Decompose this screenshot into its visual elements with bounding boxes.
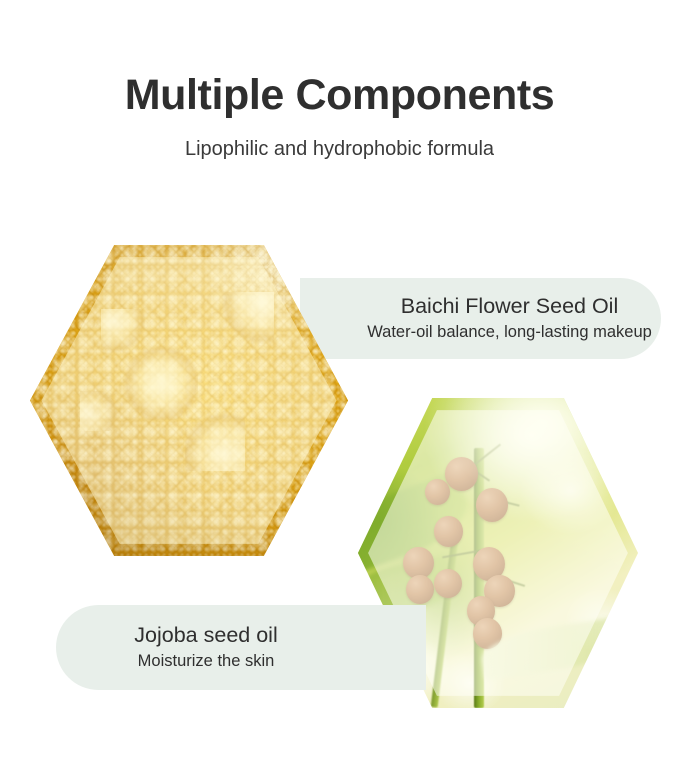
product-feature-panel: Multiple Components Lipophilic and hydro… [0, 0, 679, 766]
callout-jojoba-seed-oil: Jojoba seed oil Moisturize the skin [56, 605, 426, 690]
callout-baichi-title: Baichi Flower Seed Oil [401, 294, 618, 319]
page-subtitle: Lipophilic and hydrophobic formula [0, 118, 679, 161]
header: Multiple Components Lipophilic and hydro… [0, 72, 679, 161]
callout-baichi-benefit: Water-oil balance, long-lasting makeup [367, 319, 652, 343]
callout-jojoba-title: Jojoba seed oil [134, 623, 277, 648]
callout-jojoba-benefit: Moisturize the skin [138, 648, 275, 672]
page-title: Multiple Components [0, 72, 679, 118]
callout-baichi-flower-seed-oil: Baichi Flower Seed Oil Water-oil balance… [300, 278, 661, 359]
